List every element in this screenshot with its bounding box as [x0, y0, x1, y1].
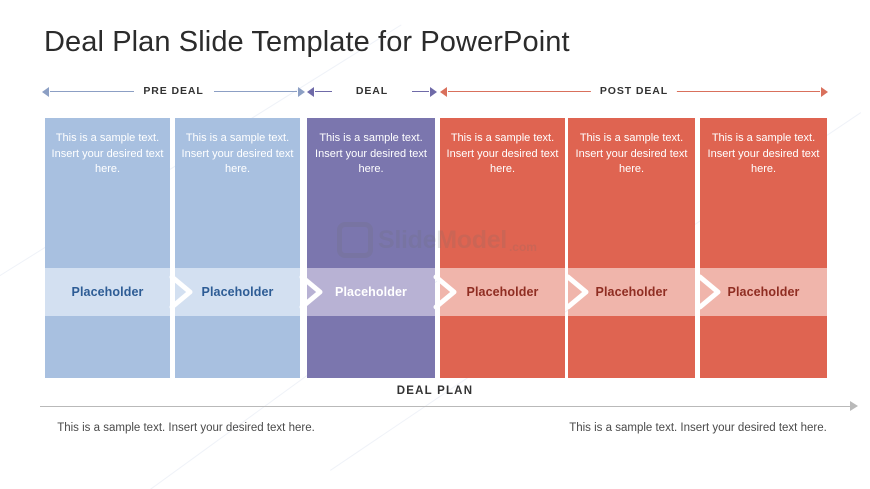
phase-deal: DEAL — [307, 83, 437, 101]
phase-arrow-left-icon — [440, 87, 447, 97]
column-bottom-block — [568, 316, 695, 378]
column-body-text: This is a sample text. Insert your desir… — [706, 131, 821, 178]
phase-line-left — [315, 91, 332, 92]
phase-arrow-left-icon — [42, 87, 49, 97]
columns-container: This is a sample text. Insert your desir… — [0, 118, 870, 378]
column-body-text: This is a sample text. Insert your desir… — [313, 131, 429, 178]
phase-line-right — [674, 91, 820, 92]
phase-line-left — [50, 91, 134, 92]
chevron-5-6 — [688, 268, 732, 316]
phase-pre-deal: PRE DEAL — [42, 83, 305, 101]
placeholder-label[interactable]: Placeholder — [45, 268, 170, 316]
phase-post-deal: POST DEAL — [440, 83, 828, 101]
phase-label: DEAL — [347, 83, 397, 100]
column-5[interactable]: This is a sample text. Insert your desir… — [568, 118, 695, 378]
column-bottom-block — [700, 316, 827, 378]
deal-plan-axis-arrow-icon — [850, 401, 858, 411]
column-top-block: This is a sample text. Insert your desir… — [568, 118, 695, 268]
phase-label: PRE DEAL — [134, 83, 212, 100]
column-body-text: This is a sample text. Insert your desir… — [574, 131, 689, 178]
deal-plan-label: DEAL PLAN — [0, 385, 870, 397]
phase-arrow-right-icon — [298, 87, 305, 97]
column-placeholder-band: Placeholder — [45, 268, 170, 316]
column-body-text: This is a sample text. Insert your desir… — [181, 131, 294, 178]
deal-plan-axis-line — [40, 406, 850, 407]
phase-line-right — [214, 91, 298, 92]
column-3[interactable]: This is a sample text. Insert your desir… — [307, 118, 435, 378]
chevron-2-3 — [290, 268, 334, 316]
column-bottom-block — [175, 316, 300, 378]
phase-line-right — [412, 91, 429, 92]
column-bottom-block — [307, 316, 435, 378]
chevron-4-5 — [556, 268, 600, 316]
slide-canvas: Deal Plan Slide Template for PowerPoint … — [0, 0, 870, 489]
phase-label: POST DEAL — [591, 83, 677, 100]
phase-arrow-left-icon — [307, 87, 314, 97]
phase-line-left — [448, 91, 594, 92]
column-4[interactable]: This is a sample text. Insert your desir… — [440, 118, 565, 378]
phase-axis: PRE DEALDEALPOST DEAL — [0, 83, 870, 103]
column-top-block: This is a sample text. Insert your desir… — [175, 118, 300, 268]
column-top-block: This is a sample text. Insert your desir… — [307, 118, 435, 268]
column-top-block: This is a sample text. Insert your desir… — [700, 118, 827, 268]
page-title: Deal Plan Slide Template for PowerPoint — [44, 26, 570, 59]
column-top-block: This is a sample text. Insert your desir… — [45, 118, 170, 268]
column-bottom-block — [440, 316, 565, 378]
column-body-text: This is a sample text. Insert your desir… — [446, 131, 559, 178]
chevron-3-4 — [424, 268, 468, 316]
column-1[interactable]: This is a sample text. Insert your desir… — [45, 118, 170, 378]
column-top-block: This is a sample text. Insert your desir… — [440, 118, 565, 268]
footnote-left: This is a sample text. Insert your desir… — [56, 420, 316, 437]
column-bottom-block — [45, 316, 170, 378]
footnote-right: This is a sample text. Insert your desir… — [568, 420, 828, 437]
column-2[interactable]: This is a sample text. Insert your desir… — [175, 118, 300, 378]
column-body-text: This is a sample text. Insert your desir… — [51, 131, 164, 178]
phase-arrow-right-icon — [821, 87, 828, 97]
column-6[interactable]: This is a sample text. Insert your desir… — [700, 118, 827, 378]
chevron-1-2 — [160, 268, 204, 316]
phase-arrow-right-icon — [430, 87, 437, 97]
